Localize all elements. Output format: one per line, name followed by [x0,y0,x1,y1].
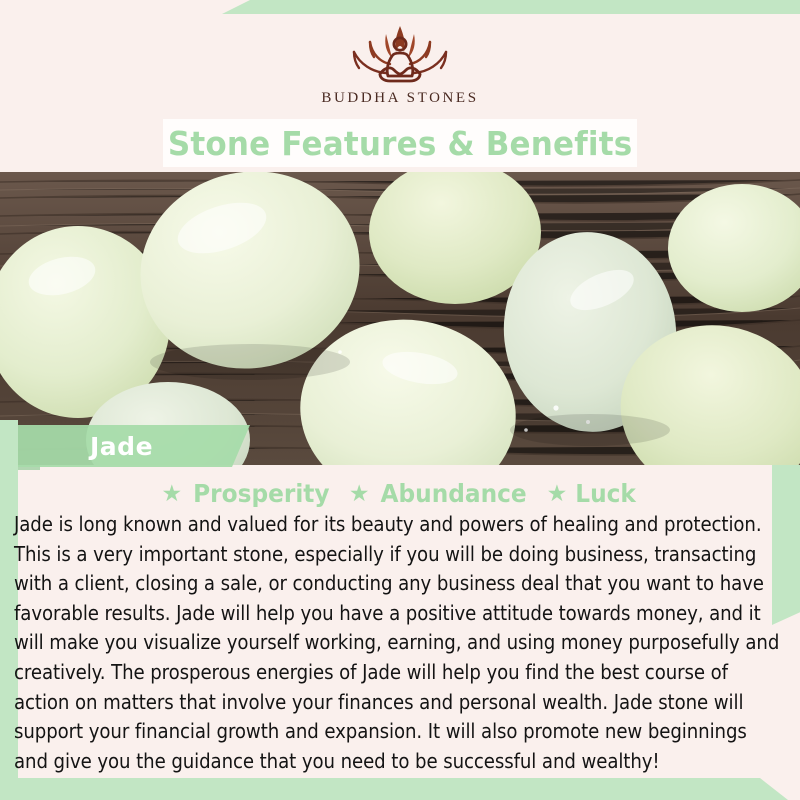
infographic-page: BUDDHA STONES Stone Features & Benefits [0,0,800,800]
keyword-list: ★ Prosperity ★ Abundance ★ Luck [0,477,800,509]
title-banner: Stone Features & Benefits [163,119,637,167]
keyword-label: Prosperity [193,479,329,508]
brand-logo: BUDDHA STONES [0,20,800,115]
decor-left-text-edge [0,465,14,785]
lotus-meditation-icon [336,20,464,88]
star-icon: ★ [349,482,370,505]
star-icon: ★ [162,482,183,505]
keyword-label: Abundance [381,479,527,508]
stone-photo-image [0,172,800,465]
stone-name-badge: Jade [0,425,250,467]
keyword-item-luck: ★ Luck [547,479,639,508]
star-icon: ★ [547,482,568,505]
decor-bottom-green-band [0,778,800,800]
stone-name-label: Jade [90,432,153,461]
description-panel: Jade is long known and valued for its be… [14,510,786,782]
decor-top-right-green-band [222,0,800,14]
description-text: Jade is long known and valued for its be… [14,510,785,776]
keyword-item-prosperity: ★ Prosperity [162,479,335,508]
keyword-item-abundance: ★ Abundance [349,479,533,508]
keyword-label: Luck [576,479,637,508]
page-title: Stone Features & Benefits [168,124,633,163]
stone-photo [0,172,800,465]
brand-name: BUDDHA STONES [321,90,478,107]
